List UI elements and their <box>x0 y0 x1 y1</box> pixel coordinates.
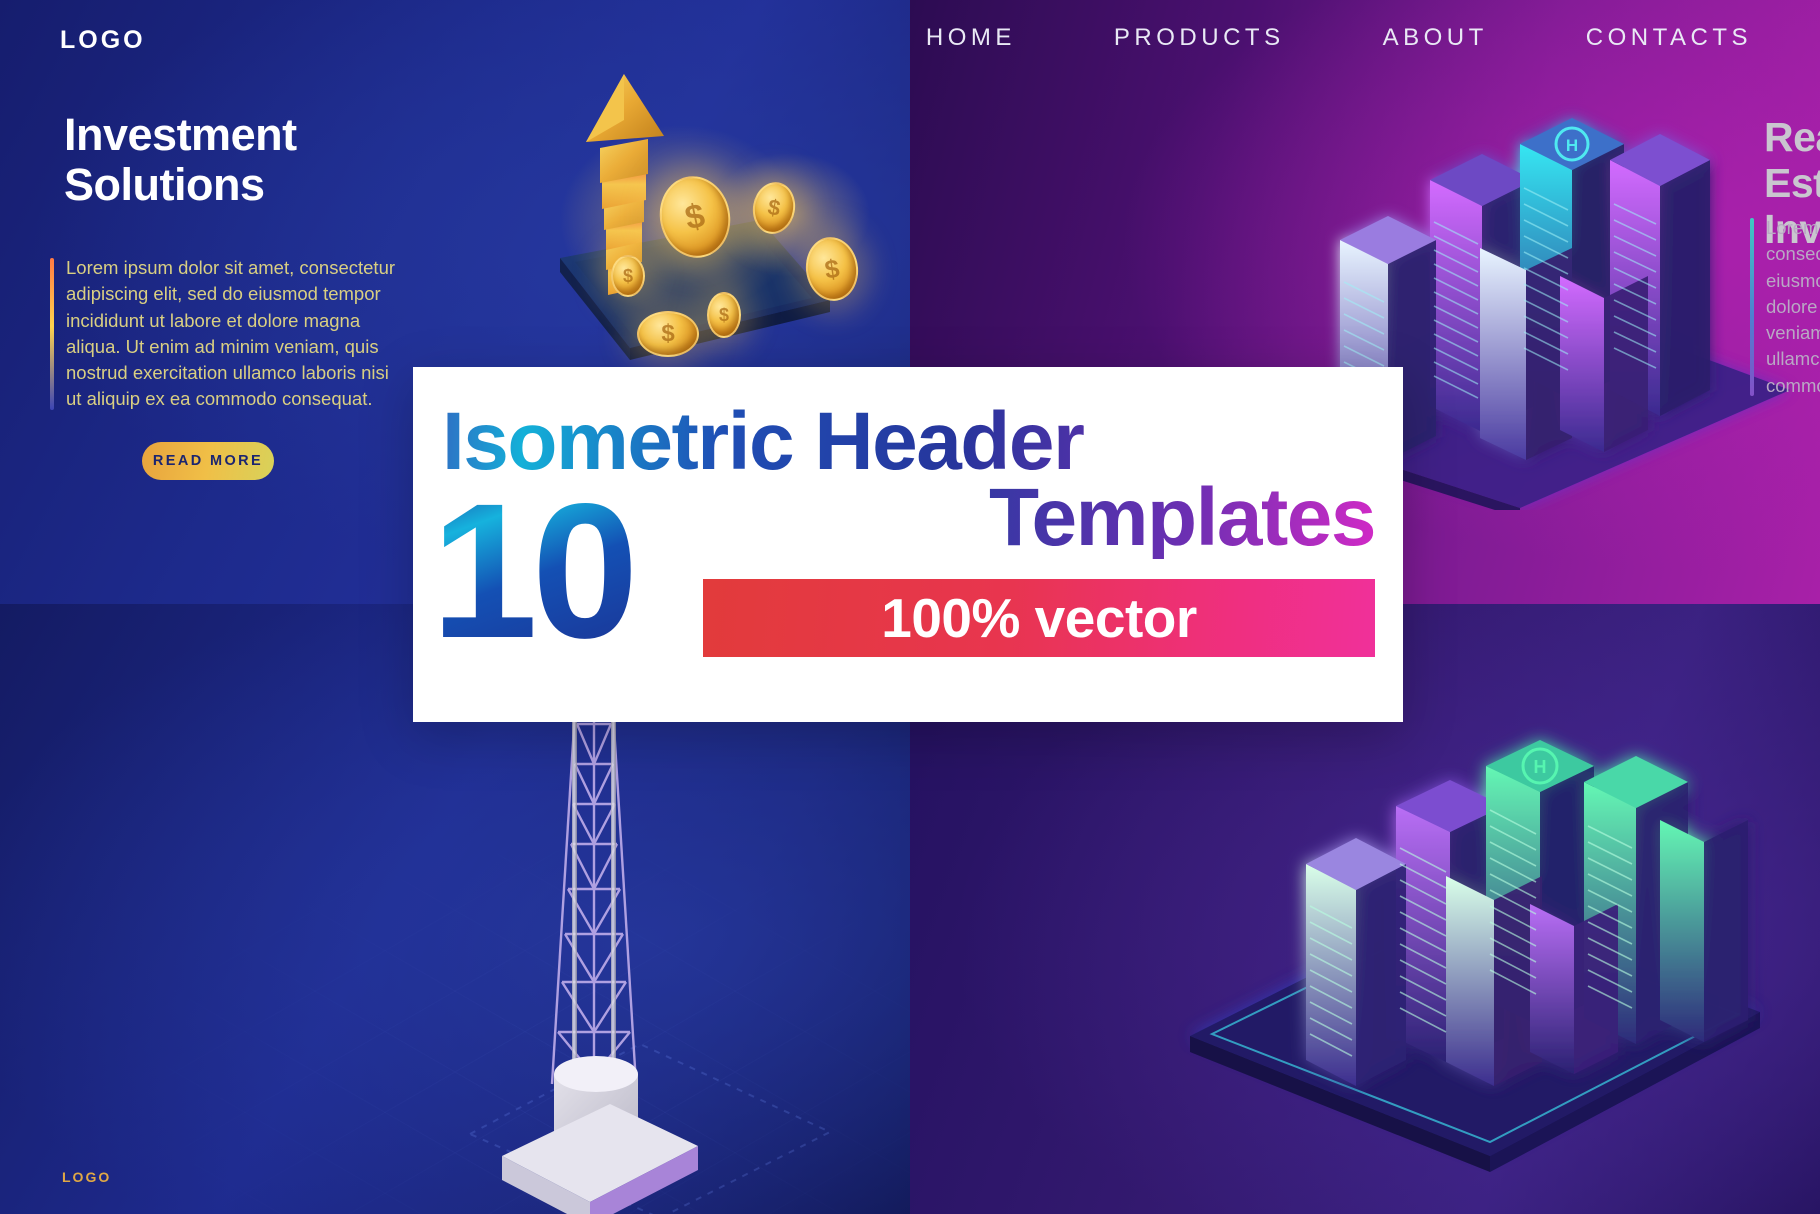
heading-line-1: Real Estate <box>1764 114 1820 206</box>
panel-body-block: Lorem ipsum dolor sit amet, consectetur … <box>50 255 400 413</box>
overlay-number: 10 <box>431 487 633 656</box>
accent-bar <box>50 258 54 410</box>
panel-body-block: Lorem ipsum dolor sit amet, consectetur … <box>1750 215 1820 399</box>
coin <box>637 311 699 357</box>
overlay-title-line-2: Templates <box>703 477 1375 559</box>
top-navigation-bar: LOGO HOME PRODUCTS ABOUT CONTACTS <box>0 0 1820 80</box>
coin <box>652 170 738 265</box>
heading-line-1: Investment <box>64 109 297 160</box>
nav-links: HOME PRODUCTS ABOUT CONTACTS <box>926 24 1752 52</box>
coin <box>611 255 645 297</box>
panel-body-text: Lorem ipsum dolor sit amet, consectetur … <box>66 255 400 413</box>
svg-text:H: H <box>1566 136 1578 155</box>
heading-line-2: Solutions <box>64 159 264 210</box>
panel-heading: Investment Solutions <box>64 110 297 211</box>
overlay-title-card: Isometric Header 10 Templates 100% vecto… <box>413 367 1403 722</box>
nav-link-contacts[interactable]: CONTACTS <box>1586 24 1752 52</box>
nav-link-products[interactable]: PRODUCTS <box>1114 24 1285 52</box>
nav-link-about[interactable]: ABOUT <box>1383 24 1488 52</box>
poster-stage: Investment Solutions Lorem ipsum dolor s… <box>0 0 1820 1214</box>
coin <box>749 179 799 238</box>
accent-bar <box>1750 218 1754 396</box>
panel-logo: LOGO <box>62 1169 111 1185</box>
nav-link-home[interactable]: HOME <box>926 24 1016 52</box>
illustration-neon-smart-city-phone: H <box>1160 654 1820 1174</box>
coin <box>707 292 741 338</box>
nav-logo[interactable]: LOGO <box>60 26 146 55</box>
coin <box>802 234 862 305</box>
read-more-button-investment[interactable]: READ MORE <box>142 442 274 480</box>
vector-badge: 100% vector <box>703 579 1375 657</box>
panel-body-text: Lorem ipsum dolor sit amet, consectetur … <box>1766 215 1820 399</box>
svg-text:H: H <box>1534 757 1547 777</box>
